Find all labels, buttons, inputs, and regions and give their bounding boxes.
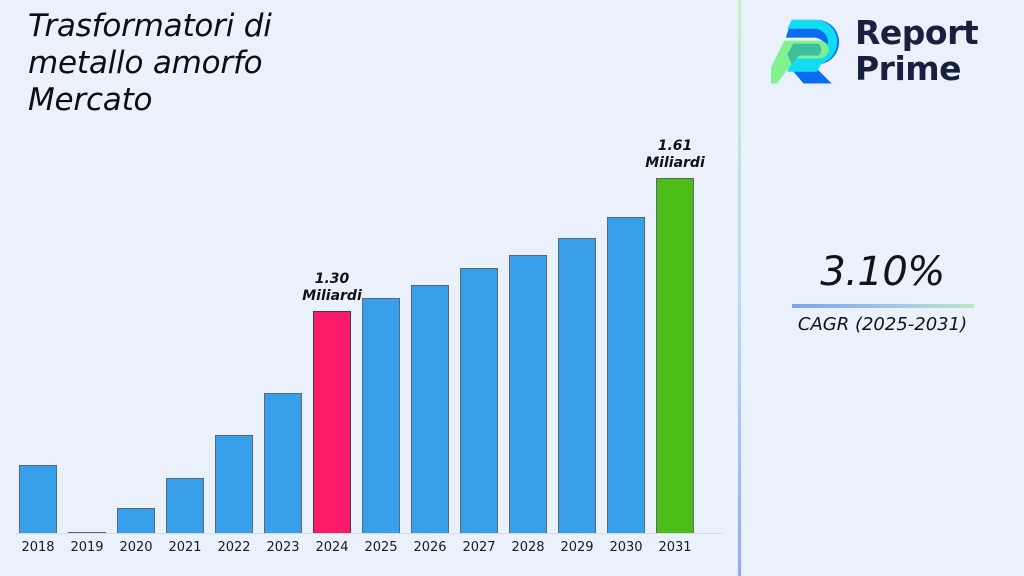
x-tick-2030: 2030 — [607, 540, 645, 555]
bar-2029[interactable] — [558, 238, 596, 533]
x-tick-2023: 2023 — [264, 540, 302, 555]
x-tick-2019: 2019 — [68, 540, 106, 555]
brand-panel: Report Prime 3.10% CAGR (2025-2031) — [741, 0, 1024, 576]
bar-2031[interactable] — [656, 178, 694, 533]
bar-group-2018 — [19, 465, 57, 533]
x-axis-line — [16, 533, 722, 534]
bar-2022[interactable] — [215, 435, 253, 533]
bar-2019[interactable] — [68, 532, 106, 533]
x-tick-2024: 2024 — [313, 540, 351, 555]
bar-2028[interactable] — [509, 255, 547, 533]
bar-group-2022 — [215, 435, 253, 533]
bar-group-2028 — [509, 255, 547, 533]
x-tick-2028: 2028 — [509, 540, 547, 555]
bar-group-2026 — [411, 285, 449, 533]
plot-area: 2018201920202021202220231.30 Miliardi202… — [0, 0, 738, 576]
bar-value-label-2031: 1.61 Miliardi — [630, 138, 720, 172]
cagr-value: 3.10% — [741, 248, 1024, 296]
cagr-divider — [792, 304, 974, 308]
x-tick-2027: 2027 — [460, 540, 498, 555]
x-tick-2020: 2020 — [117, 540, 155, 555]
bar-group-2031: 1.61 Miliardi — [656, 178, 694, 533]
report-prime-logo-icon — [771, 12, 845, 90]
x-tick-2022: 2022 — [215, 540, 253, 555]
x-tick-2026: 2026 — [411, 540, 449, 555]
bar-2030[interactable] — [607, 217, 645, 533]
chart-infographic: Trasformatori di metallo amorfo Mercato … — [0, 0, 1024, 576]
brand-logo-block: Report Prime — [771, 12, 978, 90]
bar-2026[interactable] — [411, 285, 449, 533]
chart-panel: Trasformatori di metallo amorfo Mercato … — [0, 0, 738, 576]
x-tick-2031: 2031 — [656, 540, 694, 555]
bar-2027[interactable] — [460, 268, 498, 533]
cagr-caption: CAGR (2025-2031) — [741, 314, 1024, 336]
bar-2021[interactable] — [166, 478, 204, 533]
cagr-block: 3.10% CAGR (2025-2031) — [741, 248, 1024, 336]
bar-group-2024: 1.30 Miliardi — [313, 311, 351, 533]
bar-group-2020 — [117, 508, 155, 533]
x-tick-2029: 2029 — [558, 540, 596, 555]
bar-2025[interactable] — [362, 298, 400, 533]
bar-2024[interactable] — [313, 311, 351, 533]
bar-group-2023 — [264, 393, 302, 533]
bar-2023[interactable] — [264, 393, 302, 533]
x-tick-2025: 2025 — [362, 540, 400, 555]
x-tick-2021: 2021 — [166, 540, 204, 555]
brand-name: Report Prime — [855, 15, 978, 87]
bar-group-2021 — [166, 478, 204, 533]
bar-2020[interactable] — [117, 508, 155, 533]
bar-2018[interactable] — [19, 465, 57, 533]
bar-group-2025 — [362, 298, 400, 533]
bar-group-2030 — [607, 217, 645, 533]
x-tick-2018: 2018 — [19, 540, 57, 555]
bar-group-2029 — [558, 238, 596, 533]
bar-group-2027 — [460, 268, 498, 533]
